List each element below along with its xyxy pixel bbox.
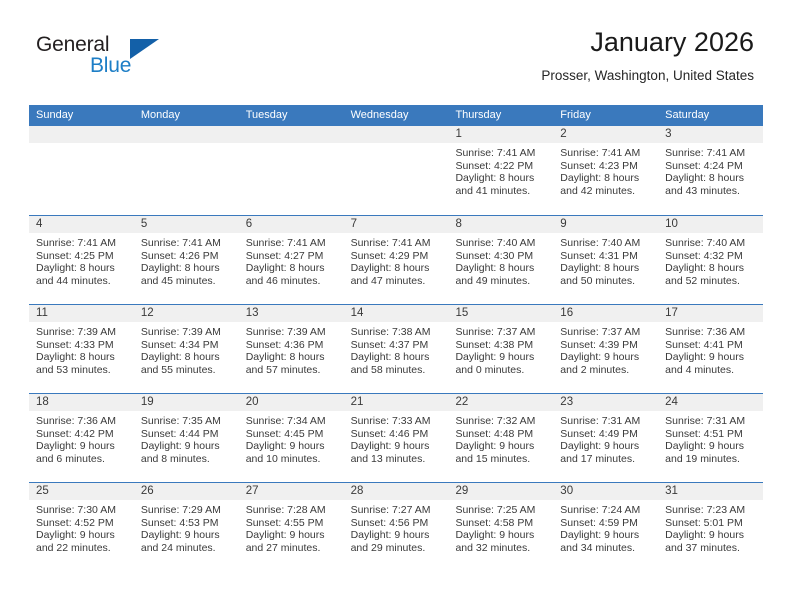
daylight-text-line2: and 27 minutes.: [246, 542, 338, 555]
sunrise-text: Sunrise: 7:39 AM: [246, 326, 338, 339]
daylight-text-line2: and 49 minutes.: [455, 275, 547, 288]
daylight-text-line1: Daylight: 8 hours: [246, 351, 338, 364]
daylight-text-line2: and 42 minutes.: [560, 185, 652, 198]
calendar-grid: Sunday Monday Tuesday Wednesday Thursday…: [29, 105, 763, 571]
sunset-text: Sunset: 4:25 PM: [36, 250, 128, 263]
daylight-text-line2: and 46 minutes.: [246, 275, 338, 288]
day-number: 5: [134, 216, 239, 233]
sunrise-text: Sunrise: 7:36 AM: [36, 415, 128, 428]
weekday-saturday: Saturday: [658, 105, 763, 126]
sunrise-text: Sunrise: 7:37 AM: [560, 326, 652, 339]
daylight-text-line1: Daylight: 8 hours: [665, 262, 757, 275]
location-subtitle: Prosser, Washington, United States: [541, 68, 754, 83]
calendar-page: General Blue January 2026 Prosser, Washi…: [0, 0, 792, 612]
day-number: 14: [344, 305, 449, 322]
day-number: 31: [658, 483, 763, 500]
day-details: Sunrise: 7:40 AM Sunset: 4:30 PM Dayligh…: [448, 233, 553, 287]
sunset-text: Sunset: 4:55 PM: [246, 517, 338, 530]
sunrise-text: Sunrise: 7:40 AM: [665, 237, 757, 250]
day-cell[interactable]: 8 Sunrise: 7:40 AM Sunset: 4:30 PM Dayli…: [448, 216, 553, 304]
sunset-text: Sunset: 4:27 PM: [246, 250, 338, 263]
day-cell[interactable]: 29 Sunrise: 7:25 AM Sunset: 4:58 PM Dayl…: [448, 483, 553, 571]
daylight-text-line2: and 32 minutes.: [455, 542, 547, 555]
day-number: 29: [448, 483, 553, 500]
day-cell[interactable]: 7 Sunrise: 7:41 AM Sunset: 4:29 PM Dayli…: [344, 216, 449, 304]
day-number: 6: [239, 216, 344, 233]
day-details: Sunrise: 7:41 AM Sunset: 4:23 PM Dayligh…: [553, 143, 658, 197]
day-details: Sunrise: 7:40 AM Sunset: 4:32 PM Dayligh…: [658, 233, 763, 287]
day-cell[interactable]: 28 Sunrise: 7:27 AM Sunset: 4:56 PM Dayl…: [344, 483, 449, 571]
weekday-thursday: Thursday: [448, 105, 553, 126]
sunrise-text: Sunrise: 7:40 AM: [455, 237, 547, 250]
day-cell[interactable]: 19 Sunrise: 7:35 AM Sunset: 4:44 PM Dayl…: [134, 394, 239, 482]
day-number: 27: [239, 483, 344, 500]
day-cell[interactable]: 12 Sunrise: 7:39 AM Sunset: 4:34 PM Dayl…: [134, 305, 239, 393]
daylight-text-line2: and 58 minutes.: [351, 364, 443, 377]
day-details: Sunrise: 7:41 AM Sunset: 4:27 PM Dayligh…: [239, 233, 344, 287]
day-cell[interactable]: 26 Sunrise: 7:29 AM Sunset: 4:53 PM Dayl…: [134, 483, 239, 571]
sunrise-text: Sunrise: 7:32 AM: [455, 415, 547, 428]
day-number: 23: [553, 394, 658, 411]
daylight-text-line2: and 10 minutes.: [246, 453, 338, 466]
day-details: [344, 143, 449, 147]
day-details: Sunrise: 7:29 AM Sunset: 4:53 PM Dayligh…: [134, 500, 239, 554]
day-number: 7: [344, 216, 449, 233]
daylight-text-line2: and 22 minutes.: [36, 542, 128, 555]
sunrise-text: Sunrise: 7:23 AM: [665, 504, 757, 517]
daylight-text-line1: Daylight: 9 hours: [36, 529, 128, 542]
day-details: Sunrise: 7:39 AM Sunset: 4:36 PM Dayligh…: [239, 322, 344, 376]
sunset-text: Sunset: 4:23 PM: [560, 160, 652, 173]
sunset-text: Sunset: 4:29 PM: [351, 250, 443, 263]
day-details: Sunrise: 7:25 AM Sunset: 4:58 PM Dayligh…: [448, 500, 553, 554]
sunset-text: Sunset: 4:26 PM: [141, 250, 233, 263]
sunrise-text: Sunrise: 7:41 AM: [246, 237, 338, 250]
day-number: 22: [448, 394, 553, 411]
sunset-text: Sunset: 4:58 PM: [455, 517, 547, 530]
day-details: Sunrise: 7:41 AM Sunset: 4:29 PM Dayligh…: [344, 233, 449, 287]
sunrise-text: Sunrise: 7:31 AM: [560, 415, 652, 428]
sunrise-text: Sunrise: 7:39 AM: [36, 326, 128, 339]
day-cell[interactable]: [29, 126, 134, 215]
sunrise-text: Sunrise: 7:41 AM: [560, 147, 652, 160]
weekday-monday: Monday: [134, 105, 239, 126]
day-details: Sunrise: 7:38 AM Sunset: 4:37 PM Dayligh…: [344, 322, 449, 376]
sunset-text: Sunset: 4:52 PM: [36, 517, 128, 530]
week-row: 4 Sunrise: 7:41 AM Sunset: 4:25 PM Dayli…: [29, 215, 763, 304]
daylight-text-line2: and 55 minutes.: [141, 364, 233, 377]
sunrise-text: Sunrise: 7:36 AM: [665, 326, 757, 339]
day-number: 26: [134, 483, 239, 500]
daylight-text-line1: Daylight: 8 hours: [246, 262, 338, 275]
daylight-text-line2: and 44 minutes.: [36, 275, 128, 288]
day-details: Sunrise: 7:41 AM Sunset: 4:22 PM Dayligh…: [448, 143, 553, 197]
daylight-text-line1: Daylight: 9 hours: [455, 351, 547, 364]
general-blue-logo[interactable]: General Blue: [36, 33, 266, 88]
daylight-text-line1: Daylight: 8 hours: [455, 172, 547, 185]
day-details: Sunrise: 7:34 AM Sunset: 4:45 PM Dayligh…: [239, 411, 344, 465]
daylight-text-line2: and 57 minutes.: [246, 364, 338, 377]
daylight-text-line1: Daylight: 9 hours: [665, 440, 757, 453]
day-cell[interactable]: 17 Sunrise: 7:36 AM Sunset: 4:41 PM Dayl…: [658, 305, 763, 393]
daylight-text-line1: Daylight: 9 hours: [665, 351, 757, 364]
weekday-wednesday: Wednesday: [344, 105, 449, 126]
weekday-tuesday: Tuesday: [239, 105, 344, 126]
sunrise-text: Sunrise: 7:39 AM: [141, 326, 233, 339]
sunrise-text: Sunrise: 7:27 AM: [351, 504, 443, 517]
day-number: 19: [134, 394, 239, 411]
day-details: Sunrise: 7:30 AM Sunset: 4:52 PM Dayligh…: [29, 500, 134, 554]
daylight-text-line1: Daylight: 8 hours: [351, 351, 443, 364]
page-title: January 2026: [541, 28, 754, 58]
daylight-text-line2: and 17 minutes.: [560, 453, 652, 466]
day-cell[interactable]: 4 Sunrise: 7:41 AM Sunset: 4:25 PM Dayli…: [29, 216, 134, 304]
daylight-text-line1: Daylight: 8 hours: [141, 262, 233, 275]
sunrise-text: Sunrise: 7:25 AM: [455, 504, 547, 517]
sunset-text: Sunset: 4:46 PM: [351, 428, 443, 441]
day-details: Sunrise: 7:39 AM Sunset: 4:34 PM Dayligh…: [134, 322, 239, 376]
day-details: Sunrise: 7:41 AM Sunset: 4:26 PM Dayligh…: [134, 233, 239, 287]
sunset-text: Sunset: 4:34 PM: [141, 339, 233, 352]
day-number: 20: [239, 394, 344, 411]
day-cell[interactable]: 1 Sunrise: 7:41 AM Sunset: 4:22 PM Dayli…: [448, 126, 553, 215]
day-cell[interactable]: 16 Sunrise: 7:37 AM Sunset: 4:39 PM Dayl…: [553, 305, 658, 393]
daylight-text-line1: Daylight: 9 hours: [560, 351, 652, 364]
daylight-text-line2: and 8 minutes.: [141, 453, 233, 466]
day-details: [239, 143, 344, 147]
daylight-text-line2: and 19 minutes.: [665, 453, 757, 466]
sunset-text: Sunset: 4:30 PM: [455, 250, 547, 263]
daylight-text-line1: Daylight: 9 hours: [246, 440, 338, 453]
day-number: 21: [344, 394, 449, 411]
day-details: Sunrise: 7:37 AM Sunset: 4:38 PM Dayligh…: [448, 322, 553, 376]
day-number: 9: [553, 216, 658, 233]
sunset-text: Sunset: 4:24 PM: [665, 160, 757, 173]
day-cell[interactable]: 22 Sunrise: 7:32 AM Sunset: 4:48 PM Dayl…: [448, 394, 553, 482]
daylight-text-line2: and 6 minutes.: [36, 453, 128, 466]
daylight-text-line2: and 50 minutes.: [560, 275, 652, 288]
sunrise-text: Sunrise: 7:34 AM: [246, 415, 338, 428]
daylight-text-line1: Daylight: 9 hours: [560, 529, 652, 542]
day-number: 24: [658, 394, 763, 411]
weekday-sunday: Sunday: [29, 105, 134, 126]
daylight-text-line1: Daylight: 8 hours: [36, 351, 128, 364]
week-row: 1 Sunrise: 7:41 AM Sunset: 4:22 PM Dayli…: [29, 126, 763, 215]
day-cell[interactable]: [134, 126, 239, 215]
sunrise-text: Sunrise: 7:31 AM: [665, 415, 757, 428]
daylight-text-line2: and 37 minutes.: [665, 542, 757, 555]
daylight-text-line1: Daylight: 8 hours: [560, 172, 652, 185]
logo-triangle-icon: [130, 39, 159, 59]
page-header: General Blue January 2026 Prosser, Washi…: [0, 0, 792, 100]
daylight-text-line1: Daylight: 9 hours: [141, 440, 233, 453]
daylight-text-line1: Daylight: 9 hours: [455, 529, 547, 542]
sunrise-text: Sunrise: 7:30 AM: [36, 504, 128, 517]
day-cell[interactable]: 27 Sunrise: 7:28 AM Sunset: 4:55 PM Dayl…: [239, 483, 344, 571]
daylight-text-line2: and 47 minutes.: [351, 275, 443, 288]
week-row: 11 Sunrise: 7:39 AM Sunset: 4:33 PM Dayl…: [29, 304, 763, 393]
daylight-text-line2: and 29 minutes.: [351, 542, 443, 555]
daylight-text-line2: and 53 minutes.: [36, 364, 128, 377]
daylight-text-line2: and 34 minutes.: [560, 542, 652, 555]
day-number: 3: [658, 126, 763, 143]
daylight-text-line1: Daylight: 9 hours: [351, 529, 443, 542]
day-cell[interactable]: 9 Sunrise: 7:40 AM Sunset: 4:31 PM Dayli…: [553, 216, 658, 304]
day-cell[interactable]: 15 Sunrise: 7:37 AM Sunset: 4:38 PM Dayl…: [448, 305, 553, 393]
daylight-text-line2: and 15 minutes.: [455, 453, 547, 466]
sunrise-text: Sunrise: 7:38 AM: [351, 326, 443, 339]
logo-text-blue: Blue: [90, 54, 131, 78]
sunset-text: Sunset: 4:45 PM: [246, 428, 338, 441]
day-cell[interactable]: [239, 126, 344, 215]
day-details: Sunrise: 7:33 AM Sunset: 4:46 PM Dayligh…: [344, 411, 449, 465]
day-cell[interactable]: 5 Sunrise: 7:41 AM Sunset: 4:26 PM Dayli…: [134, 216, 239, 304]
day-number: 25: [29, 483, 134, 500]
sunrise-text: Sunrise: 7:41 AM: [665, 147, 757, 160]
daylight-text-line1: Daylight: 8 hours: [141, 351, 233, 364]
day-details: Sunrise: 7:24 AM Sunset: 4:59 PM Dayligh…: [553, 500, 658, 554]
day-number: 30: [553, 483, 658, 500]
sunrise-text: Sunrise: 7:37 AM: [455, 326, 547, 339]
title-block: January 2026 Prosser, Washington, United…: [541, 28, 754, 83]
day-number: 2: [553, 126, 658, 143]
day-number: [134, 126, 239, 143]
day-number: 1: [448, 126, 553, 143]
day-details: Sunrise: 7:31 AM Sunset: 4:51 PM Dayligh…: [658, 411, 763, 465]
week-row: 18 Sunrise: 7:36 AM Sunset: 4:42 PM Dayl…: [29, 393, 763, 482]
daylight-text-line1: Daylight: 8 hours: [36, 262, 128, 275]
daylight-text-line1: Daylight: 9 hours: [560, 440, 652, 453]
sunset-text: Sunset: 4:59 PM: [560, 517, 652, 530]
daylight-text-line1: Daylight: 8 hours: [665, 172, 757, 185]
day-details: Sunrise: 7:40 AM Sunset: 4:31 PM Dayligh…: [553, 233, 658, 287]
day-details: [29, 143, 134, 147]
sunset-text: Sunset: 4:37 PM: [351, 339, 443, 352]
sunrise-text: Sunrise: 7:41 AM: [141, 237, 233, 250]
sunset-text: Sunset: 4:33 PM: [36, 339, 128, 352]
sunset-text: Sunset: 4:56 PM: [351, 517, 443, 530]
day-number: 15: [448, 305, 553, 322]
sunset-text: Sunset: 4:44 PM: [141, 428, 233, 441]
sunset-text: Sunset: 4:38 PM: [455, 339, 547, 352]
daylight-text-line1: Daylight: 9 hours: [455, 440, 547, 453]
day-details: Sunrise: 7:36 AM Sunset: 4:42 PM Dayligh…: [29, 411, 134, 465]
day-cell[interactable]: 31 Sunrise: 7:23 AM Sunset: 5:01 PM Dayl…: [658, 483, 763, 571]
sunset-text: Sunset: 4:48 PM: [455, 428, 547, 441]
sunrise-text: Sunrise: 7:41 AM: [36, 237, 128, 250]
daylight-text-line1: Daylight: 9 hours: [665, 529, 757, 542]
daylight-text-line1: Daylight: 9 hours: [246, 529, 338, 542]
day-number: 10: [658, 216, 763, 233]
sunset-text: Sunset: 4:42 PM: [36, 428, 128, 441]
day-details: Sunrise: 7:39 AM Sunset: 4:33 PM Dayligh…: [29, 322, 134, 376]
day-details: Sunrise: 7:41 AM Sunset: 4:25 PM Dayligh…: [29, 233, 134, 287]
sunset-text: Sunset: 4:53 PM: [141, 517, 233, 530]
day-cell[interactable]: 6 Sunrise: 7:41 AM Sunset: 4:27 PM Dayli…: [239, 216, 344, 304]
daylight-text-line2: and 2 minutes.: [560, 364, 652, 377]
day-cell[interactable]: 21 Sunrise: 7:33 AM Sunset: 4:46 PM Dayl…: [344, 394, 449, 482]
daylight-text-line1: Daylight: 9 hours: [36, 440, 128, 453]
daylight-text-line2: and 43 minutes.: [665, 185, 757, 198]
daylight-text-line1: Daylight: 8 hours: [455, 262, 547, 275]
day-details: Sunrise: 7:41 AM Sunset: 4:24 PM Dayligh…: [658, 143, 763, 197]
day-number: [29, 126, 134, 143]
sunset-text: Sunset: 4:51 PM: [665, 428, 757, 441]
sunset-text: Sunset: 5:01 PM: [665, 517, 757, 530]
sunset-text: Sunset: 4:49 PM: [560, 428, 652, 441]
weekday-friday: Friday: [553, 105, 658, 126]
day-cell[interactable]: 18 Sunrise: 7:36 AM Sunset: 4:42 PM Dayl…: [29, 394, 134, 482]
day-cell[interactable]: 13 Sunrise: 7:39 AM Sunset: 4:36 PM Dayl…: [239, 305, 344, 393]
day-details: Sunrise: 7:28 AM Sunset: 4:55 PM Dayligh…: [239, 500, 344, 554]
day-details: Sunrise: 7:23 AM Sunset: 5:01 PM Dayligh…: [658, 500, 763, 554]
day-cell[interactable]: 24 Sunrise: 7:31 AM Sunset: 4:51 PM Dayl…: [658, 394, 763, 482]
day-details: Sunrise: 7:27 AM Sunset: 4:56 PM Dayligh…: [344, 500, 449, 554]
sunrise-text: Sunrise: 7:41 AM: [455, 147, 547, 160]
day-cell[interactable]: 30 Sunrise: 7:24 AM Sunset: 4:59 PM Dayl…: [553, 483, 658, 571]
day-details: [134, 143, 239, 147]
daylight-text-line2: and 24 minutes.: [141, 542, 233, 555]
daylight-text-line1: Daylight: 9 hours: [351, 440, 443, 453]
daylight-text-line2: and 45 minutes.: [141, 275, 233, 288]
sunrise-text: Sunrise: 7:41 AM: [351, 237, 443, 250]
daylight-text-line2: and 52 minutes.: [665, 275, 757, 288]
sunset-text: Sunset: 4:31 PM: [560, 250, 652, 263]
day-cell[interactable]: [344, 126, 449, 215]
day-number: 4: [29, 216, 134, 233]
day-number: 8: [448, 216, 553, 233]
daylight-text-line1: Daylight: 9 hours: [141, 529, 233, 542]
sunrise-text: Sunrise: 7:40 AM: [560, 237, 652, 250]
day-number: [239, 126, 344, 143]
day-number: 18: [29, 394, 134, 411]
day-number: 11: [29, 305, 134, 322]
day-cell[interactable]: 2 Sunrise: 7:41 AM Sunset: 4:23 PM Dayli…: [553, 126, 658, 215]
day-cell[interactable]: 3 Sunrise: 7:41 AM Sunset: 4:24 PM Dayli…: [658, 126, 763, 215]
sunrise-text: Sunrise: 7:35 AM: [141, 415, 233, 428]
day-number: 28: [344, 483, 449, 500]
day-number: 16: [553, 305, 658, 322]
sunset-text: Sunset: 4:39 PM: [560, 339, 652, 352]
day-cell[interactable]: 14 Sunrise: 7:38 AM Sunset: 4:37 PM Dayl…: [344, 305, 449, 393]
sunset-text: Sunset: 4:36 PM: [246, 339, 338, 352]
day-cell[interactable]: 10 Sunrise: 7:40 AM Sunset: 4:32 PM Dayl…: [658, 216, 763, 304]
day-details: Sunrise: 7:31 AM Sunset: 4:49 PM Dayligh…: [553, 411, 658, 465]
daylight-text-line1: Daylight: 8 hours: [351, 262, 443, 275]
day-number: 13: [239, 305, 344, 322]
sunrise-text: Sunrise: 7:33 AM: [351, 415, 443, 428]
daylight-text-line2: and 41 minutes.: [455, 185, 547, 198]
sunset-text: Sunset: 4:22 PM: [455, 160, 547, 173]
sunrise-text: Sunrise: 7:28 AM: [246, 504, 338, 517]
day-cell[interactable]: 11 Sunrise: 7:39 AM Sunset: 4:33 PM Dayl…: [29, 305, 134, 393]
day-cell[interactable]: 25 Sunrise: 7:30 AM Sunset: 4:52 PM Dayl…: [29, 483, 134, 571]
day-details: Sunrise: 7:36 AM Sunset: 4:41 PM Dayligh…: [658, 322, 763, 376]
weekday-header-row: Sunday Monday Tuesday Wednesday Thursday…: [29, 105, 763, 126]
week-row: 25 Sunrise: 7:30 AM Sunset: 4:52 PM Dayl…: [29, 482, 763, 571]
sunset-text: Sunset: 4:41 PM: [665, 339, 757, 352]
day-cell[interactable]: 23 Sunrise: 7:31 AM Sunset: 4:49 PM Dayl…: [553, 394, 658, 482]
sunset-text: Sunset: 4:32 PM: [665, 250, 757, 263]
day-cell[interactable]: 20 Sunrise: 7:34 AM Sunset: 4:45 PM Dayl…: [239, 394, 344, 482]
daylight-text-line1: Daylight: 8 hours: [560, 262, 652, 275]
day-number: [344, 126, 449, 143]
sunrise-text: Sunrise: 7:24 AM: [560, 504, 652, 517]
daylight-text-line2: and 4 minutes.: [665, 364, 757, 377]
day-details: Sunrise: 7:32 AM Sunset: 4:48 PM Dayligh…: [448, 411, 553, 465]
daylight-text-line2: and 13 minutes.: [351, 453, 443, 466]
sunrise-text: Sunrise: 7:29 AM: [141, 504, 233, 517]
day-number: 12: [134, 305, 239, 322]
day-details: Sunrise: 7:37 AM Sunset: 4:39 PM Dayligh…: [553, 322, 658, 376]
daylight-text-line2: and 0 minutes.: [455, 364, 547, 377]
day-number: 17: [658, 305, 763, 322]
day-details: Sunrise: 7:35 AM Sunset: 4:44 PM Dayligh…: [134, 411, 239, 465]
